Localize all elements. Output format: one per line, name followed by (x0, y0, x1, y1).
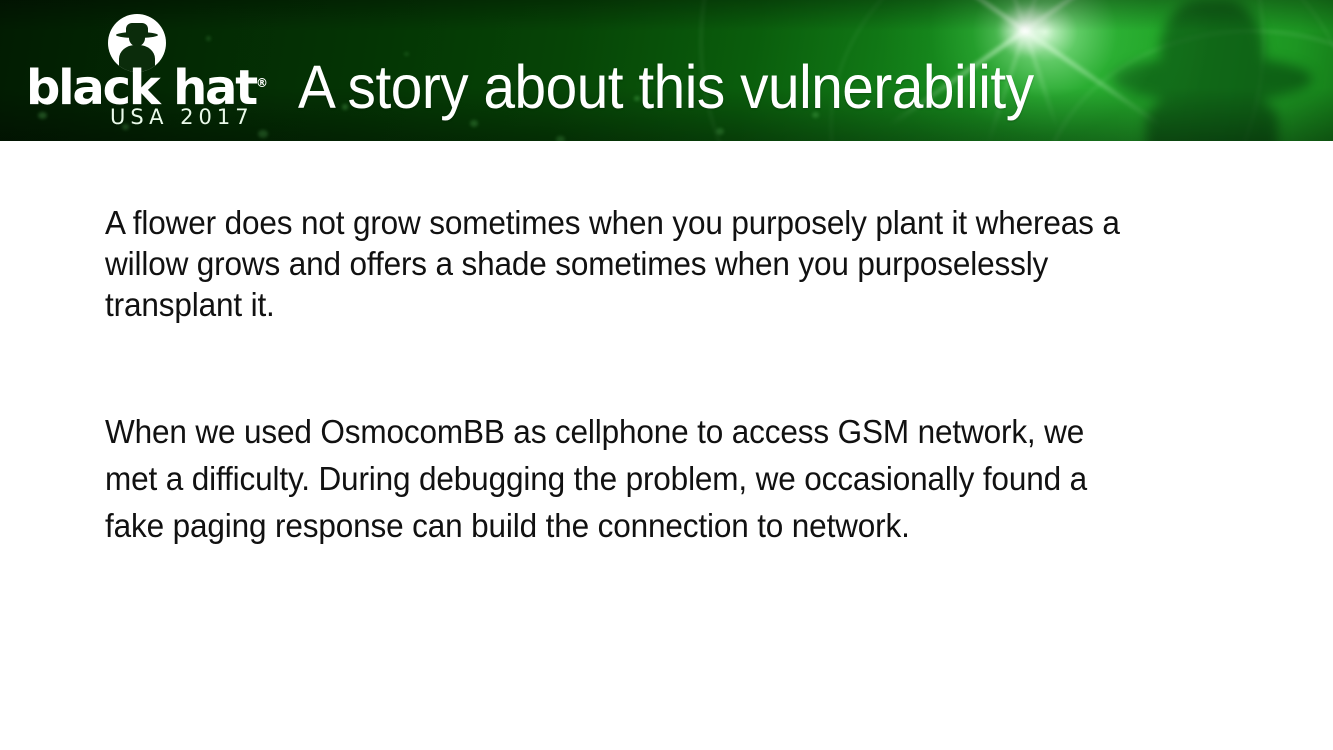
registered-trademark-symbol: ® (256, 76, 268, 90)
body-paragraph-1: A flower does not grow sometimes when yo… (105, 202, 1136, 325)
body-paragraph-2: When we used OsmocomBB as cellphone to a… (105, 408, 1136, 549)
logo-person-head (129, 29, 145, 46)
slide-body: A flower does not grow sometimes when yo… (105, 202, 1185, 549)
black-hat-logo: black hat® USA 2017 (26, 14, 284, 126)
page-title: A story about this vulnerability (298, 52, 1209, 124)
slide-header-banner: black hat® USA 2017 A story about this v… (0, 0, 1333, 141)
logo-subtitle: USA 2017 (110, 106, 254, 129)
paragraph-spacer (105, 325, 1185, 408)
slide: black hat® USA 2017 A story about this v… (0, 0, 1333, 750)
